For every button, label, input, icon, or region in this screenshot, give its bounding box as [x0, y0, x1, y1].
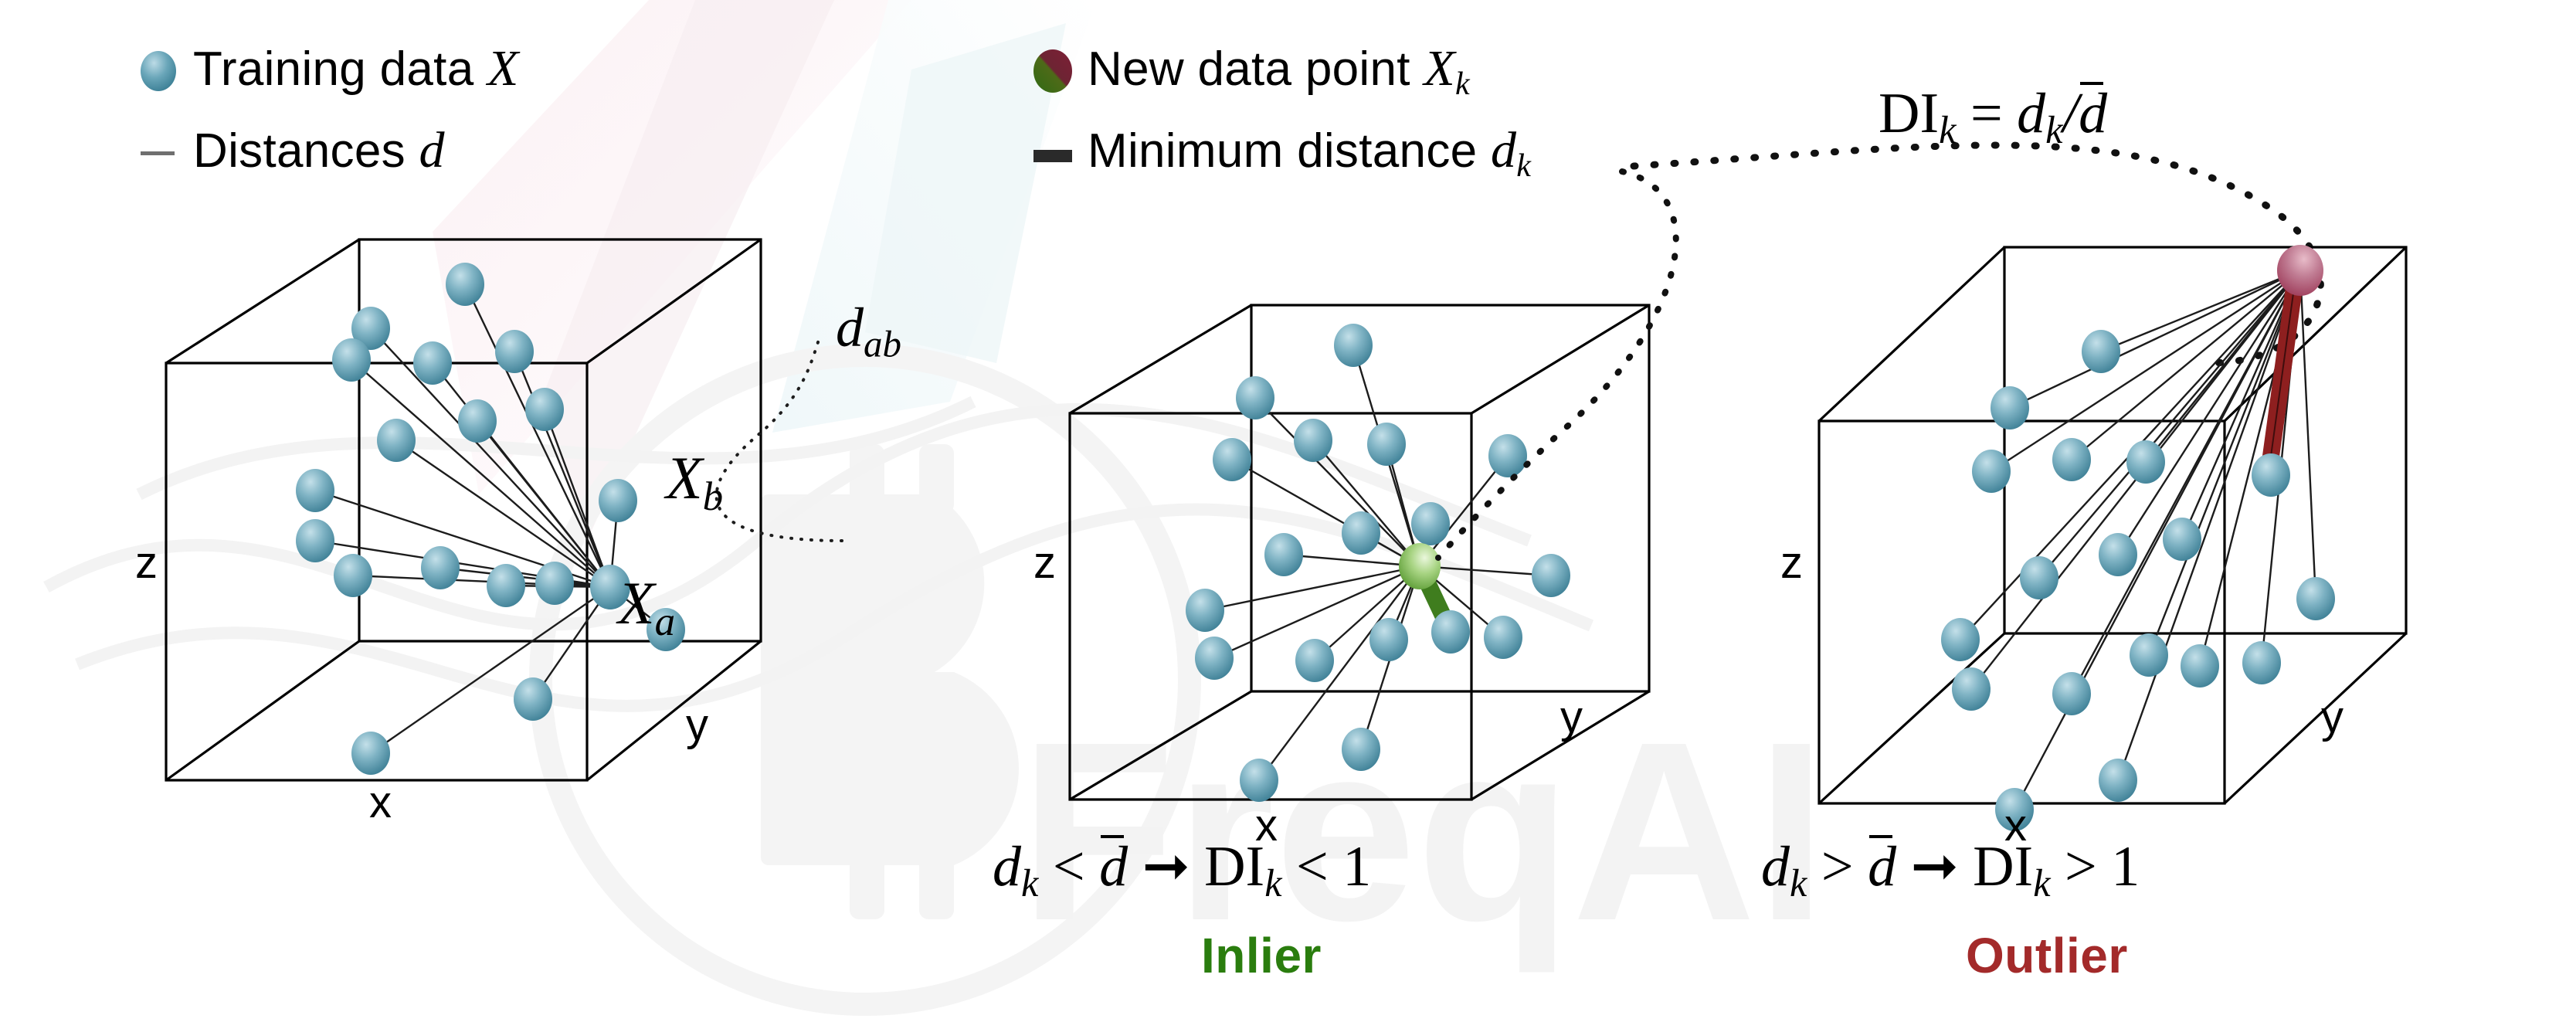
label-distance-ab: dab [836, 300, 901, 364]
caption-inlier-di-sub: k [1264, 861, 1281, 905]
label-Xb-symbol: X [666, 444, 703, 511]
panel-outlier-axis-y: y [2321, 695, 2344, 740]
dk-leader-connector-outlier [1634, 145, 2320, 363]
caption-inlier-word: Inlier [1201, 931, 1322, 980]
caption-inlier-one: 1 [1342, 835, 1371, 898]
dk-leader-connector [1438, 171, 1676, 558]
legend-distances-symbol: d [419, 122, 444, 178]
legend-marker-min-distance [1033, 150, 1072, 162]
legend-item-min-distance: Minimum distance dk [1088, 125, 1531, 182]
di-formula-numerator: d [2017, 82, 2045, 145]
label-dab-subscript: ab [864, 323, 901, 365]
caption-inlier-rel2: < [1296, 835, 1329, 898]
panel-inlier-axis-y: y [1560, 695, 1583, 740]
label-Xb-subscript: b [703, 474, 724, 519]
di-formula-lhs: DI [1879, 82, 1939, 145]
panel-training-axis-y: y [686, 703, 708, 748]
label-point-Xb: Xb [666, 448, 723, 518]
di-formula-equals: = [1970, 82, 2003, 145]
legend-training-symbol: X [487, 40, 519, 97]
legend-distances-label: Distances [193, 124, 406, 178]
di-formula: DIk = dk/d [1879, 85, 2107, 149]
caption-outlier-d-sub: k [1790, 861, 1807, 905]
legend-new-point-symbol: X [1424, 40, 1455, 97]
panel-outlier-cube [1819, 247, 2406, 803]
caption-inlier-di: DI [1204, 835, 1264, 898]
panel-inlier-axis-z: z [1033, 541, 1056, 586]
caption-outlier-d: d [1761, 835, 1790, 898]
label-Xa-subscript: a [655, 599, 676, 644]
legend-marker-new-point [1033, 49, 1072, 93]
legend-item-training-data: Training data X [193, 43, 519, 94]
legend-item-new-data-point: New data point Xk [1088, 43, 1470, 100]
legend-min-distance-label: Minimum distance [1088, 124, 1477, 178]
caption-outlier-rel2: > [2065, 835, 2097, 898]
caption-inlier-d: d [993, 835, 1021, 898]
legend-min-distance-subscript: k [1516, 148, 1531, 184]
di-formula-numerator-sub: k [2045, 108, 2062, 151]
panel-outlier-axis-z: z [1780, 541, 1803, 586]
caption-inlier-dbar: d [1099, 838, 1128, 895]
caption-inlier-rel1: < [1053, 835, 1085, 898]
dab-leader [717, 340, 842, 541]
panel-training-axis-x: x [369, 780, 392, 825]
caption-outlier-word: Outlier [1966, 931, 2128, 980]
caption-inlier-d-sub: k [1021, 861, 1038, 905]
caption-inlier-formula: dk < d ➞ DIk < 1 [993, 838, 1371, 902]
legend-marker-training [141, 51, 176, 91]
caption-outlier-formula: dk > d ➞ DIk > 1 [1761, 838, 2140, 902]
figure-canvas: FreqAI [0, 0, 2576, 1022]
label-point-Xa: Xa [618, 573, 675, 643]
caption-outlier-rel1: > [1821, 835, 1854, 898]
caption-inlier-arrow: ➞ [1142, 835, 1190, 898]
point-Xk-inlier [1399, 543, 1441, 589]
caption-outlier-di: DI [1973, 835, 2033, 898]
caption-outlier-dbar: d [1868, 838, 1896, 895]
panel-training-axis-z: z [135, 541, 158, 586]
di-formula-lhs-sub: k [1939, 108, 1956, 151]
di-formula-denominator: d [2079, 85, 2107, 142]
label-dab-symbol: d [836, 297, 864, 358]
label-Xa-symbol: X [618, 569, 655, 637]
legend-new-point-label: New data point [1088, 42, 1410, 96]
panel-outlier-distance-lines [1960, 270, 2316, 810]
legend-marker-distances [141, 151, 175, 155]
point-Xk-outlier [2277, 245, 2323, 296]
caption-outlier-arrow: ➞ [1911, 835, 1959, 898]
legend-item-distances: Distances d [193, 125, 445, 176]
caption-outlier-one: 1 [2111, 835, 2140, 898]
di-formula-slash: / [2063, 82, 2079, 145]
caption-outlier-di-sub: k [2033, 861, 2050, 905]
legend-training-label: Training data [193, 42, 474, 96]
legend-new-point-subscript: k [1455, 66, 1470, 102]
legend-min-distance-symbol: d [1491, 122, 1516, 178]
